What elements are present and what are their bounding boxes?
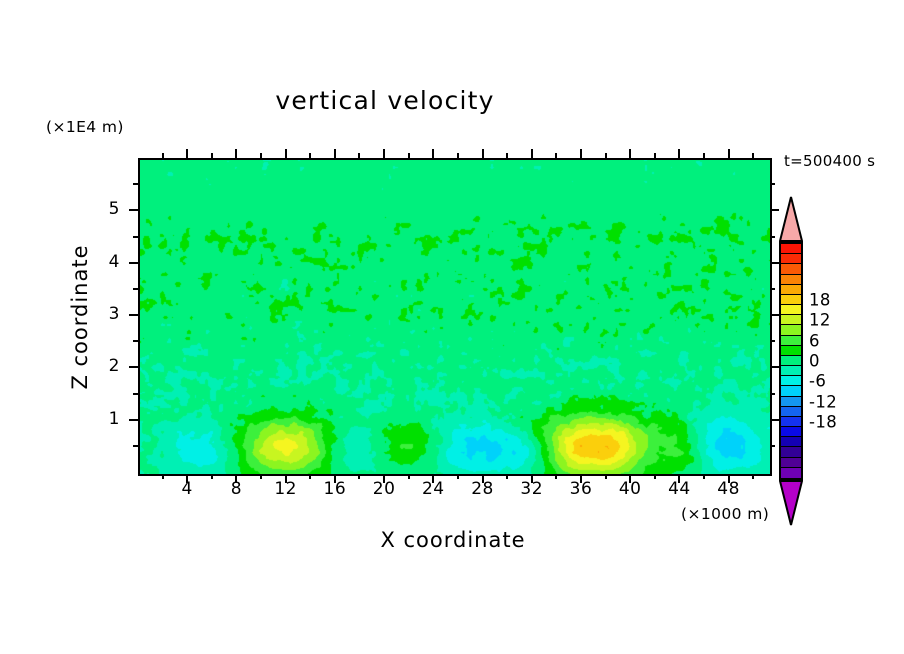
colorbar-tick-label: 6 xyxy=(809,331,820,350)
colorbar-band xyxy=(781,397,801,407)
colorbar-over-arrow xyxy=(779,196,803,242)
contour-plot-area xyxy=(138,158,772,476)
x-tick-minor xyxy=(309,474,311,479)
x-axis-unit-label: (×1000 m) xyxy=(681,505,769,523)
colorbar-tick-label: 0 xyxy=(809,352,820,371)
colorbar-band xyxy=(781,427,801,437)
x-axis-title: X coordinate xyxy=(138,528,768,552)
x-tick-minor xyxy=(358,474,360,479)
colorbar-tick-label: 18 xyxy=(809,290,831,309)
x-tick-major-top xyxy=(629,149,631,158)
colorbar-tick-label: -6 xyxy=(809,372,826,391)
y-tick-minor-right xyxy=(770,183,775,185)
x-tick-minor xyxy=(654,474,656,479)
colorbar-band-stack xyxy=(779,242,803,480)
colorbar-band xyxy=(781,254,801,264)
x-tick-minor-top xyxy=(309,153,311,158)
x-tick-major-top xyxy=(383,149,385,158)
y-tick-minor xyxy=(133,183,138,185)
y-tick-minor xyxy=(133,340,138,342)
x-tick-minor xyxy=(211,474,213,479)
y-tick-minor xyxy=(133,445,138,447)
x-tick-label: 48 xyxy=(699,479,759,499)
colorbar-band xyxy=(781,305,801,315)
colorbar-band xyxy=(781,437,801,447)
x-tick-major-top xyxy=(728,149,730,158)
x-tick-minor xyxy=(555,474,557,479)
x-tick-major-top xyxy=(580,149,582,158)
x-tick-minor xyxy=(506,474,508,479)
x-tick-major-top xyxy=(482,149,484,158)
colorbar-band xyxy=(781,468,801,478)
x-tick-minor-top xyxy=(605,153,607,158)
colorbar-band xyxy=(781,264,801,274)
y-axis-title: Z coordinate xyxy=(68,197,92,437)
y-tick-minor-right xyxy=(770,340,775,342)
x-tick-minor xyxy=(162,474,164,479)
y-tick-minor xyxy=(133,393,138,395)
vertical-velocity-field xyxy=(140,160,770,474)
colorbar-band xyxy=(781,244,801,254)
x-tick-minor-top xyxy=(162,153,164,158)
colorbar-band xyxy=(781,447,801,457)
colorbar: 181260-6-12-18 xyxy=(779,196,803,526)
x-tick-minor xyxy=(703,474,705,479)
x-tick-minor-top xyxy=(457,153,459,158)
x-tick-minor-top xyxy=(358,153,360,158)
colorbar-band xyxy=(781,346,801,356)
y-tick-major-right xyxy=(770,262,779,264)
time-annotation: t=500400 s xyxy=(784,152,875,170)
y-tick-minor xyxy=(133,236,138,238)
x-tick-minor xyxy=(605,474,607,479)
colorbar-tick-label: -12 xyxy=(809,392,837,411)
colorbar-band xyxy=(781,275,801,285)
colorbar-band xyxy=(781,366,801,376)
y-tick-major xyxy=(129,314,138,316)
y-tick-major-right xyxy=(770,314,779,316)
y-tick-minor-right xyxy=(770,236,775,238)
colorbar-band xyxy=(781,376,801,386)
y-tick-major xyxy=(129,366,138,368)
x-tick-minor-top xyxy=(752,153,754,158)
colorbar-band xyxy=(781,356,801,366)
x-tick-minor-top xyxy=(260,153,262,158)
y-tick-major-right xyxy=(770,209,779,211)
x-tick-minor-top xyxy=(654,153,656,158)
x-tick-minor-top xyxy=(703,153,705,158)
colorbar-band xyxy=(781,407,801,417)
y-tick-major-right xyxy=(770,419,779,421)
x-tick-minor-top xyxy=(555,153,557,158)
colorbar-band xyxy=(781,336,801,346)
colorbar-band xyxy=(781,325,801,335)
colorbar-band xyxy=(781,315,801,325)
chart-title: vertical velocity xyxy=(0,86,770,115)
colorbar-band xyxy=(781,417,801,427)
colorbar-band xyxy=(781,285,801,295)
y-tick-major xyxy=(129,419,138,421)
x-tick-minor-top xyxy=(211,153,213,158)
x-tick-minor xyxy=(457,474,459,479)
x-tick-minor xyxy=(408,474,410,479)
x-tick-major-top xyxy=(235,149,237,158)
x-tick-major-top xyxy=(186,149,188,158)
figure-canvas: vertical velocity (×1E4 m) t=500400 s 48… xyxy=(0,0,904,654)
colorbar-band xyxy=(781,458,801,468)
x-tick-major-top xyxy=(678,149,680,158)
x-tick-minor-top xyxy=(408,153,410,158)
x-tick-major-top xyxy=(432,149,434,158)
y-tick-major xyxy=(129,209,138,211)
colorbar-under-arrow xyxy=(779,480,803,526)
colorbar-tick-label: -18 xyxy=(809,413,837,432)
x-tick-minor xyxy=(752,474,754,479)
over-arrow-icon xyxy=(779,196,803,242)
x-tick-major-top xyxy=(285,149,287,158)
y-tick-minor xyxy=(133,288,138,290)
y-tick-major-right xyxy=(770,366,779,368)
under-arrow-icon xyxy=(779,480,803,526)
y-tick-minor-right xyxy=(770,288,775,290)
colorbar-band xyxy=(781,295,801,305)
x-tick-minor xyxy=(260,474,262,479)
x-tick-major-top xyxy=(334,149,336,158)
x-tick-minor-top xyxy=(506,153,508,158)
y-tick-minor-right xyxy=(770,393,775,395)
colorbar-band xyxy=(781,386,801,396)
colorbar-tick-label: 12 xyxy=(809,311,831,330)
y-tick-major xyxy=(129,262,138,264)
y-tick-minor-right xyxy=(770,445,775,447)
y-axis-unit-label: (×1E4 m) xyxy=(46,118,124,136)
x-tick-major-top xyxy=(531,149,533,158)
